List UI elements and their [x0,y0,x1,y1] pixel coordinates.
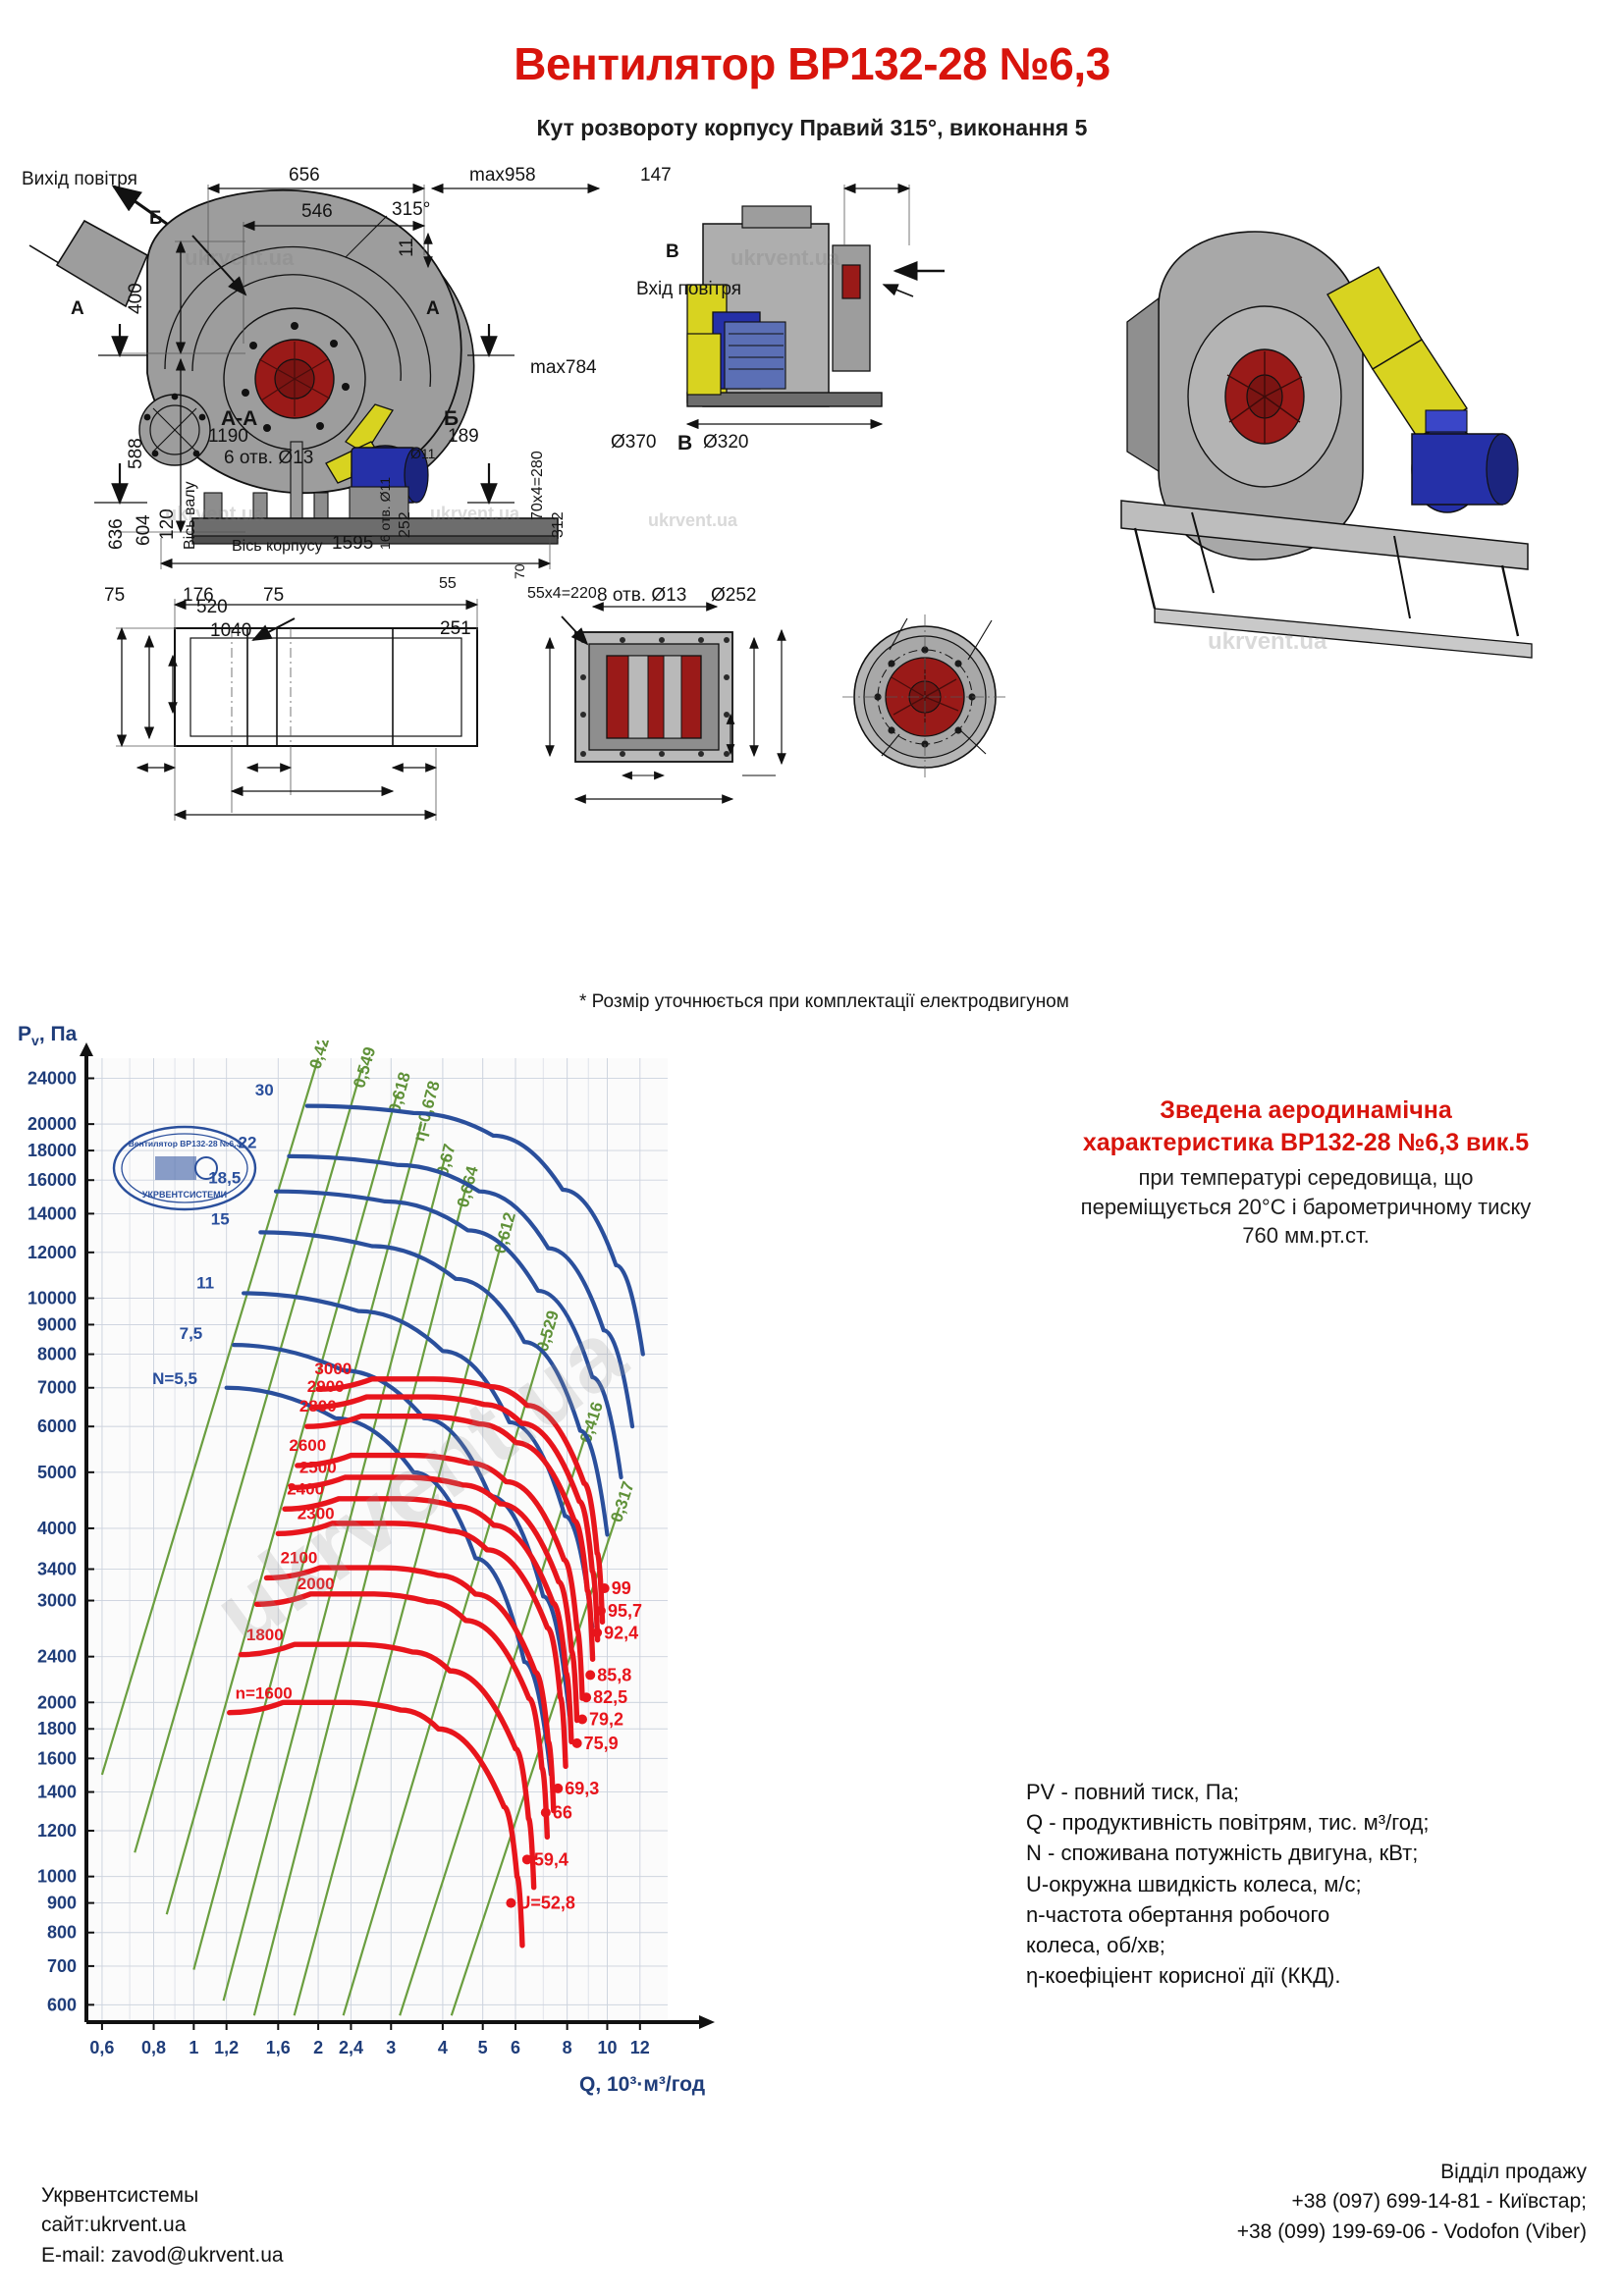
svg-text:6: 6 [511,2038,520,2057]
isometric-view [1121,232,1532,658]
dim-604: 604 [134,514,155,546]
svg-text:2000: 2000 [37,1692,77,1712]
svg-text:N=5,5: N=5,5 [152,1369,197,1388]
dim-max784: max784 [530,357,597,379]
footnote: * Розмір уточнюється при комплектації ел… [579,991,1069,1013]
svg-text:10: 10 [597,2038,617,2057]
svg-text:U=52,8: U=52,8 [517,1894,575,1913]
svg-text:18,5: 18,5 [208,1168,241,1187]
dim-70x4-280: 70х4=280 [529,451,547,520]
dim-252: 252 [397,511,414,538]
dim-656: 656 [289,165,320,187]
chart-subtitle-line3: 760 мм.рт.ст. [1011,1221,1600,1251]
chart-legend: PV - повний тиск, Па; Q - продуктивність… [1026,1777,1429,1992]
dim-312: 312 [550,511,568,538]
svg-text:600: 600 [47,1995,77,2014]
dim-16-holes-11: 16 отв. Ø11 [377,477,393,550]
svg-text:0,6: 0,6 [89,2038,114,2057]
website[interactable]: сайт:ukrvent.ua [41,2211,284,2240]
svg-text:11: 11 [196,1273,214,1292]
air-outlet-label: Вихід повітря [22,169,137,190]
svg-text:20000: 20000 [27,1114,77,1134]
chart-title-line1: Зведена аеродинамічна [1011,1095,1600,1127]
chart-subtitle-line1: при температурі середовища, що [1011,1163,1600,1193]
svg-text:75,9: 75,9 [584,1734,619,1753]
y-axis-label: Pv, Па [18,1023,77,1048]
svg-text:3400: 3400 [37,1560,77,1579]
axis-housing-label: Вісь корпусу [232,538,322,556]
email[interactable]: E-mail: zavod@ukrvent.ua [41,2241,284,2270]
svg-text:0,8: 0,8 [141,2038,166,2057]
dim-max958: max958 [469,165,536,187]
dim-400: 400 [126,283,147,314]
side-view [687,185,945,424]
svg-text:1600: 1600 [37,1748,77,1768]
dim-11: 11 [397,238,418,257]
dim-1190: 1190 [208,426,248,448]
legend-item: Q - продуктивність повітрям, тис. м³/год… [1026,1807,1429,1838]
legend-item: n-частота обертання робочого [1026,1899,1429,1930]
air-inlet-label: Вхід повітря [636,279,741,300]
svg-text:2600: 2600 [289,1436,326,1455]
svg-text:7000: 7000 [37,1378,77,1398]
company-name: Укрвентсистемы [41,2181,284,2211]
dim-70: 70 [512,563,527,579]
chart-title: Зведена аеродинамічна характеристика ВР1… [1011,1095,1600,1158]
svg-text:79,2: 79,2 [589,1709,623,1729]
chart-subtitle-line2: переміщується 20°С і барометричному тиск… [1011,1193,1600,1222]
legend-item: U-окружна швидкість колеса, м/с; [1026,1869,1429,1899]
svg-text:1,2: 1,2 [214,2038,239,2057]
dim-147: 147 [640,165,672,187]
dim-636: 636 [106,518,128,550]
technical-drawings [0,147,1624,1031]
detail-b [550,607,782,799]
dim-546: 546 [301,201,333,223]
svg-text:16000: 16000 [27,1170,77,1190]
svg-text:800: 800 [47,1923,77,1943]
dim-8-holes-13: 8 отв. Ø13 [597,585,686,607]
section-mark-a-left: А [71,298,84,320]
datasheet-page: Вентилятор ВР132-28 №6,3 Кут розвороту к… [0,0,1624,2296]
chart-svg: 6007008009001000120014001600180020002400… [0,1041,1021,2179]
section-mark-v-side: В [666,241,679,263]
svg-text:900: 900 [47,1894,77,1913]
section-aa [116,599,477,821]
svg-text:59,4: 59,4 [534,1849,568,1869]
svg-text:6000: 6000 [37,1416,77,1436]
svg-text:1: 1 [189,2038,198,2057]
dim-370: Ø370 [611,432,656,454]
svg-text:95,7: 95,7 [608,1601,642,1621]
dim-1040: 1040 [210,620,251,642]
svg-text:99: 99 [612,1578,631,1598]
phone-vodafone[interactable]: +38 (099) 199-69-06 - Vodofon (Viber) [1237,2217,1587,2247]
svg-text:92,4: 92,4 [604,1623,638,1642]
legend-item: PV - повний тиск, Па; [1026,1777,1429,1807]
svg-text:5: 5 [478,2038,488,2057]
svg-text:2: 2 [313,2038,323,2057]
section-mark-a-right: А [426,298,440,320]
svg-text:18000: 18000 [27,1141,77,1160]
svg-text:30: 30 [255,1081,274,1099]
detail-v-title: В [677,432,692,455]
svg-text:7,5: 7,5 [180,1324,203,1343]
svg-text:66: 66 [553,1802,572,1822]
svg-text:УКРВЕНТСИСТЕМИ: УКРВЕНТСИСТЕМИ [142,1190,227,1200]
svg-text:8: 8 [563,2038,572,2057]
dim-315deg: 315° [392,199,430,221]
svg-text:12: 12 [630,2038,650,2057]
detail-v [842,614,1007,779]
page-title: Вентилятор ВР132-28 №6,3 [0,37,1624,90]
svg-text:8000: 8000 [37,1345,77,1364]
dim-75-right: 75 [263,585,284,607]
svg-text:1400: 1400 [37,1783,77,1802]
svg-text:2,4: 2,4 [339,2038,363,2057]
chart-subtitle: при температурі середовища, що переміщує… [1011,1163,1600,1251]
section-mark-b-top: Б [149,208,163,230]
chart-title-line2: характеристика ВР132-28 №6,3 вик.5 [1011,1127,1600,1159]
front-view [29,185,599,569]
svg-text:Вентилятор ВР132-28 №6,3: Вентилятор ВР132-28 №6,3 [129,1139,242,1148]
legend-item: колеса, об/хв; [1026,1930,1429,1960]
svg-text:69,3: 69,3 [565,1779,599,1798]
svg-text:1000: 1000 [37,1867,77,1887]
dim-251: 251 [440,618,471,640]
sales-dept-label: Відділ продажу [1237,2158,1587,2187]
dim-252-v: Ø252 [711,585,756,607]
dim-588: 588 [126,438,147,469]
legend-item: η-коефіціент корисної дії (ККД). [1026,1960,1429,1991]
svg-text:n=1600: n=1600 [236,1683,293,1702]
footer-left: Укрвентсистемы сайт:ukrvent.ua E-mail: z… [41,2181,284,2270]
dim-320: Ø320 [703,432,748,454]
svg-text:4: 4 [438,2038,448,2057]
svg-text:Q, 10³·м³/год: Q, 10³·м³/год [579,2073,705,2096]
dim-120: 120 [157,508,179,540]
svg-text:85,8: 85,8 [597,1665,631,1684]
page-subtitle: Кут розвороту корпусу Правий 315°, викон… [0,115,1624,141]
aerodynamic-chart: Pv, Па 600700800900100012001400160018002… [0,1041,1021,2179]
svg-text:82,5: 82,5 [593,1687,627,1707]
dim-hole-11: Ø11 [410,446,435,461]
legend-item: N - споживана потужність двигуна, кВт; [1026,1838,1429,1868]
svg-text:700: 700 [47,1956,77,1976]
svg-text:1800: 1800 [37,1719,77,1738]
dim-520: 520 [196,597,228,618]
svg-text:10000: 10000 [27,1288,77,1308]
svg-text:2400: 2400 [37,1647,77,1667]
dim-75-left: 75 [104,585,125,607]
svg-text:4000: 4000 [37,1519,77,1538]
svg-text:24000: 24000 [27,1068,77,1088]
dim-6-holes-13: 6 отв. Ø13 [224,448,313,469]
phone-kyivstar[interactable]: +38 (097) 699-14-81 - Київстар; [1237,2187,1587,2216]
dim-189: 189 [448,426,479,448]
svg-text:14000: 14000 [27,1203,77,1223]
dim-55x4-220: 55х4=220 [527,585,597,603]
svg-text:3000: 3000 [314,1360,352,1378]
footer-right: Відділ продажу +38 (097) 699-14-81 - Киї… [1237,2158,1587,2247]
svg-text:3000: 3000 [37,1591,77,1611]
svg-text:9000: 9000 [37,1314,77,1334]
axis-shaft-label: Вісь валу [182,481,199,550]
dim-1595: 1595 [332,533,373,555]
svg-text:12000: 12000 [27,1243,77,1262]
dim-55: 55 [439,575,457,593]
svg-text:5000: 5000 [37,1463,77,1482]
svg-text:1,6: 1,6 [266,2038,291,2057]
svg-text:3: 3 [386,2038,396,2057]
svg-text:1200: 1200 [37,1821,77,1841]
svg-text:15: 15 [211,1210,230,1229]
